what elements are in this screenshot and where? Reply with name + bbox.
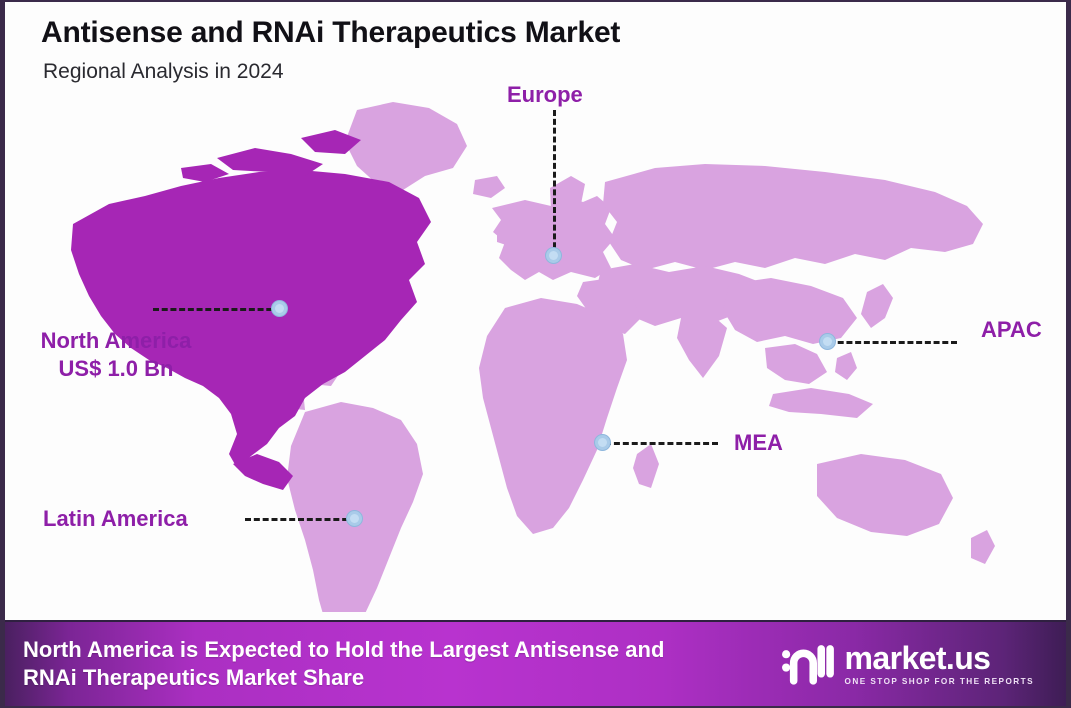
leader-line-mea [605, 442, 718, 445]
region-name-mea: MEA [734, 430, 783, 455]
region-label-europe: Europe [507, 81, 583, 109]
region-name-europe: Europe [507, 82, 583, 107]
leader-line-europe [553, 110, 556, 257]
region-label-mea: MEA [734, 429, 783, 457]
leader-line-north-america [153, 308, 281, 311]
marker-mea[interactable] [594, 434, 611, 451]
footer-banner: North America is Expected to Hold the La… [5, 620, 1066, 706]
footer-headline-line1: North America is Expected to Hold the La… [23, 636, 664, 664]
brand-logo[interactable]: market.us ONE STOP SHOP FOR THE REPORTS [780, 640, 1052, 688]
region-name-north-america: North America [41, 328, 192, 353]
market-us-logo-icon [780, 640, 834, 688]
brand-name: market.us [845, 642, 1034, 674]
marker-europe[interactable] [545, 247, 562, 264]
leader-line-apac [829, 341, 957, 344]
region-label-apac: APAC [981, 316, 1042, 344]
brand-logo-text: market.us ONE STOP SHOP FOR THE REPORTS [845, 642, 1034, 686]
brand-tagline: ONE STOP SHOP FOR THE REPORTS [845, 678, 1034, 686]
region-label-latin-america: Latin America [43, 505, 188, 533]
region-value-north-america: US$ 1.0 Bn [21, 355, 211, 383]
infographic-canvas: Antisense and RNAi Therapeutics Market R… [0, 0, 1071, 708]
region-name-latin-america: Latin America [43, 506, 188, 531]
footer-headline-line2: RNAi Therapeutics Market Share [23, 664, 664, 692]
marker-apac[interactable] [819, 333, 836, 350]
leader-line-latin-america [245, 518, 357, 521]
marker-north-america[interactable] [271, 300, 288, 317]
page-title: Antisense and RNAi Therapeutics Market [41, 16, 620, 50]
footer-headline: North America is Expected to Hold the La… [23, 636, 664, 692]
region-name-apac: APAC [981, 317, 1042, 342]
marker-latin-america[interactable] [346, 510, 363, 527]
region-label-north-america: North America US$ 1.0 Bn [21, 327, 211, 382]
